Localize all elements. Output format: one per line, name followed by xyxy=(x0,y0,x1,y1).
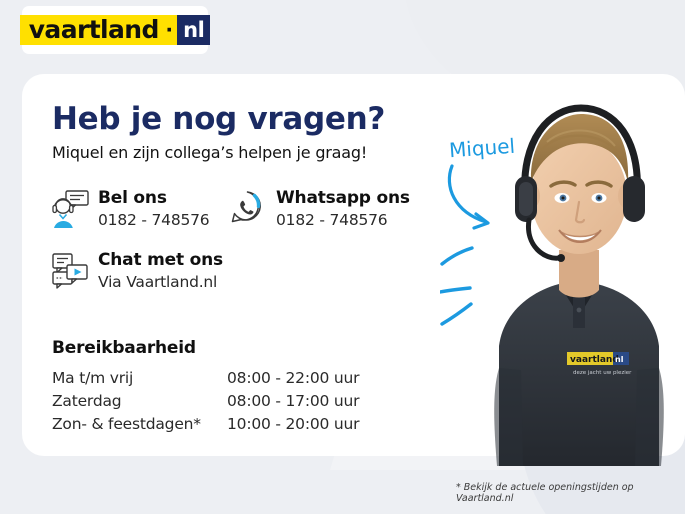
contact-call-title: Bel ons xyxy=(98,188,167,208)
svg-text:vaartland: vaartland xyxy=(570,355,619,365)
availability-hours: 10:00 - 20:00 uur xyxy=(227,413,359,436)
contact-option-whatsapp[interactable]: Whatsapp ons 0182 - 748576 xyxy=(228,188,410,231)
page-subtitle: Miquel en zijn collega’s helpen je graag… xyxy=(52,143,367,162)
availability-day: Zaterdag xyxy=(52,390,227,413)
contact-whatsapp-number[interactable]: 0182 - 748576 xyxy=(276,211,387,229)
whatsapp-icon xyxy=(228,188,268,230)
accent-speed-lines-icon xyxy=(440,242,510,332)
logo-tld: nl xyxy=(177,15,210,45)
curved-arrow-icon xyxy=(438,160,548,240)
contact-call-number[interactable]: 0182 - 748576 xyxy=(98,211,209,229)
logo-inner: vaartland · nl xyxy=(20,15,211,45)
vaartland-logo[interactable]: vaartland · nl xyxy=(22,6,208,54)
availability-hours: 08:00 - 17:00 uur xyxy=(227,390,359,413)
contact-whatsapp-text: Whatsapp ons 0182 - 748576 xyxy=(276,188,410,231)
svg-text:nl: nl xyxy=(615,355,624,364)
headset-person-icon xyxy=(50,188,90,230)
availability-row: Zaterdag 08:00 - 17:00 uur xyxy=(52,390,359,413)
footnote-text: * Bekijk de actuele openingstijden op Va… xyxy=(456,482,685,504)
availability-day: Zon- & feestdagen* xyxy=(52,413,227,436)
availability-day: Ma t/m vrij xyxy=(52,367,227,390)
availability-hours: 08:00 - 22:00 uur xyxy=(227,367,359,390)
chat-bubbles-icon xyxy=(50,250,90,292)
contact-chat-title: Chat met ons xyxy=(98,250,223,270)
availability-title: Bereikbaarheid xyxy=(52,338,359,358)
page-title: Heb je nog vragen? xyxy=(52,101,385,137)
contact-whatsapp-title: Whatsapp ons xyxy=(276,188,410,208)
contact-option-call[interactable]: Bel ons 0182 - 748576 xyxy=(50,188,209,231)
svg-text:deze jacht uw plezier: deze jacht uw plezier xyxy=(573,370,632,376)
contact-call-text: Bel ons 0182 - 748576 xyxy=(98,188,209,231)
contact-option-chat[interactable]: Chat met ons Via Vaartland.nl xyxy=(50,250,223,293)
availability-section: Bereikbaarheid Ma t/m vrij 08:00 - 22:00… xyxy=(52,338,359,436)
contact-chat-link[interactable]: Via Vaartland.nl xyxy=(98,273,217,291)
logo-separator-dot: · xyxy=(166,15,177,45)
availability-row: Zon- & feestdagen* 10:00 - 20:00 uur xyxy=(52,413,359,436)
miquel-annotation-label: Miquel xyxy=(448,134,516,163)
contact-chat-text: Chat met ons Via Vaartland.nl xyxy=(98,250,223,293)
logo-wordmark: vaartland xyxy=(20,15,166,45)
availability-row: Ma t/m vrij 08:00 - 22:00 uur xyxy=(52,367,359,390)
